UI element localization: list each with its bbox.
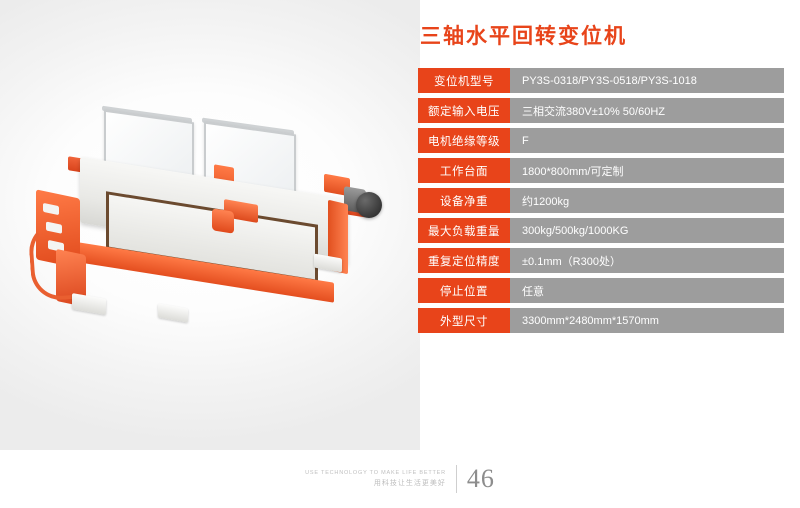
spec-table: 变位机型号 PY3S-0318/PY3S-0518/PY3S-1018 额定输入… (418, 68, 784, 333)
table-row: 额定输入电压 三相交流380V±10% 50/60HZ (418, 98, 784, 123)
page-number: 46 (467, 464, 495, 494)
table-row: 停止位置 任意 (418, 278, 784, 303)
spec-label: 变位机型号 (418, 68, 510, 93)
base-foot (72, 293, 106, 315)
positioner-illustration (28, 110, 400, 330)
motor-disc (356, 192, 382, 218)
page-footer: USE TECHNOLOGY TO MAKE LIFE BETTER 用科技让生… (0, 464, 800, 494)
spec-label: 设备净重 (418, 188, 510, 213)
spec-label: 外型尺寸 (418, 308, 510, 333)
spec-value: 约1200kg (510, 188, 784, 213)
table-row: 重复定位精度 ±0.1mm（R300处） (418, 248, 784, 273)
spec-value: ±0.1mm（R300处） (510, 248, 784, 273)
base-foot (158, 303, 188, 322)
footer-divider (456, 465, 457, 493)
page-title: 三轴水平回转变位机 (420, 20, 784, 50)
center-orange-pad (212, 208, 234, 233)
table-row: 变位机型号 PY3S-0318/PY3S-0518/PY3S-1018 (418, 68, 784, 93)
spec-value: F (510, 128, 784, 153)
footer-slogan-en: USE TECHNOLOGY TO MAKE LIFE BETTER (305, 469, 446, 478)
spec-value: 任意 (510, 278, 784, 303)
spec-label: 停止位置 (418, 278, 510, 303)
table-row: 工作台面 1800*800mm/可定制 (418, 158, 784, 183)
spec-label: 额定输入电压 (418, 98, 510, 123)
spec-value: 三相交流380V±10% 50/60HZ (510, 98, 784, 123)
spec-label: 电机绝缘等级 (418, 128, 510, 153)
spec-value: PY3S-0318/PY3S-0518/PY3S-1018 (510, 68, 784, 93)
spec-value: 1800*800mm/可定制 (510, 158, 784, 183)
spec-label: 重复定位精度 (418, 248, 510, 273)
spec-value: 3300mm*2480mm*1570mm (510, 308, 784, 333)
cable-loop (27, 220, 86, 302)
catalog-page: 三轴水平回转变位机 变位机型号 PY3S-0318/PY3S-0518/PY3S… (0, 0, 800, 508)
table-row: 电机绝缘等级 F (418, 128, 784, 153)
spec-panel: 三轴水平回转变位机 变位机型号 PY3S-0318/PY3S-0518/PY3S… (418, 20, 784, 338)
slot-icon (43, 203, 59, 215)
spec-label: 最大负载重量 (418, 218, 510, 243)
spec-label: 工作台面 (418, 158, 510, 183)
table-row: 设备净重 约1200kg (418, 188, 784, 213)
footer-slogan-cn: 用科技让生活更美好 (305, 478, 446, 489)
product-photo (0, 0, 420, 450)
footer-slogan: USE TECHNOLOGY TO MAKE LIFE BETTER 用科技让生… (305, 469, 446, 489)
spec-value: 300kg/500kg/1000KG (510, 218, 784, 243)
table-row: 外型尺寸 3300mm*2480mm*1570mm (418, 308, 784, 333)
table-row: 最大负载重量 300kg/500kg/1000KG (418, 218, 784, 243)
